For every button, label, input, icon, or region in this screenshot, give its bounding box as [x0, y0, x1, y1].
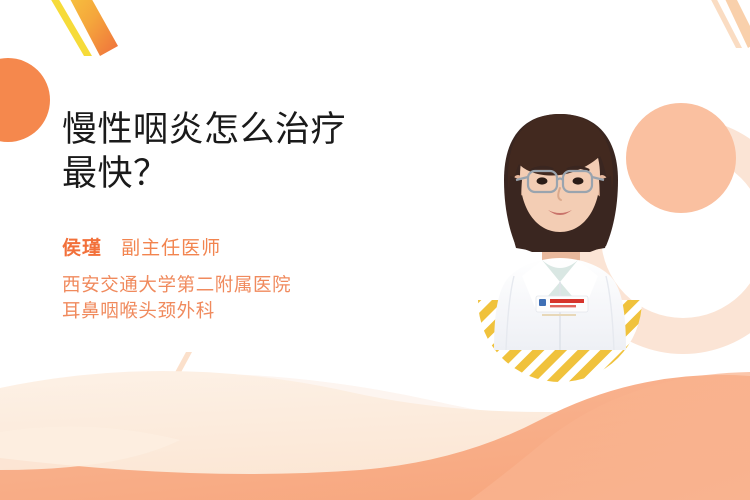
decor-stripes-top-left [43, 0, 118, 56]
decor-stripes-top-right [706, 0, 750, 48]
eye-right [573, 177, 584, 184]
promo-card: 慢性咽炎怎么治疗 最快？ 侯瑾 副主任医师 西安交通大学第二附属医院 耳鼻咽喉头… [0, 0, 750, 500]
doctor-portrait [470, 100, 650, 350]
doctor-hospital: 西安交通大学第二附属医院 [62, 273, 462, 299]
doctor-credential-line: 侯瑾 副主任医师 [62, 233, 462, 260]
eye-left [537, 177, 548, 184]
decor-circle-left [0, 58, 50, 142]
doctor-department: 耳鼻咽喉头颈外科 [62, 299, 462, 325]
doctor-name: 侯瑾 [62, 237, 102, 259]
doctor-title: 副主任医师 [121, 237, 221, 259]
text-block: 慢性咽炎怎么治疗 最快？ 侯瑾 副主任医师 西安交通大学第二附属医院 耳鼻咽喉头… [62, 108, 462, 326]
page-title: 慢性咽炎怎么治疗 最快？ [62, 108, 462, 196]
